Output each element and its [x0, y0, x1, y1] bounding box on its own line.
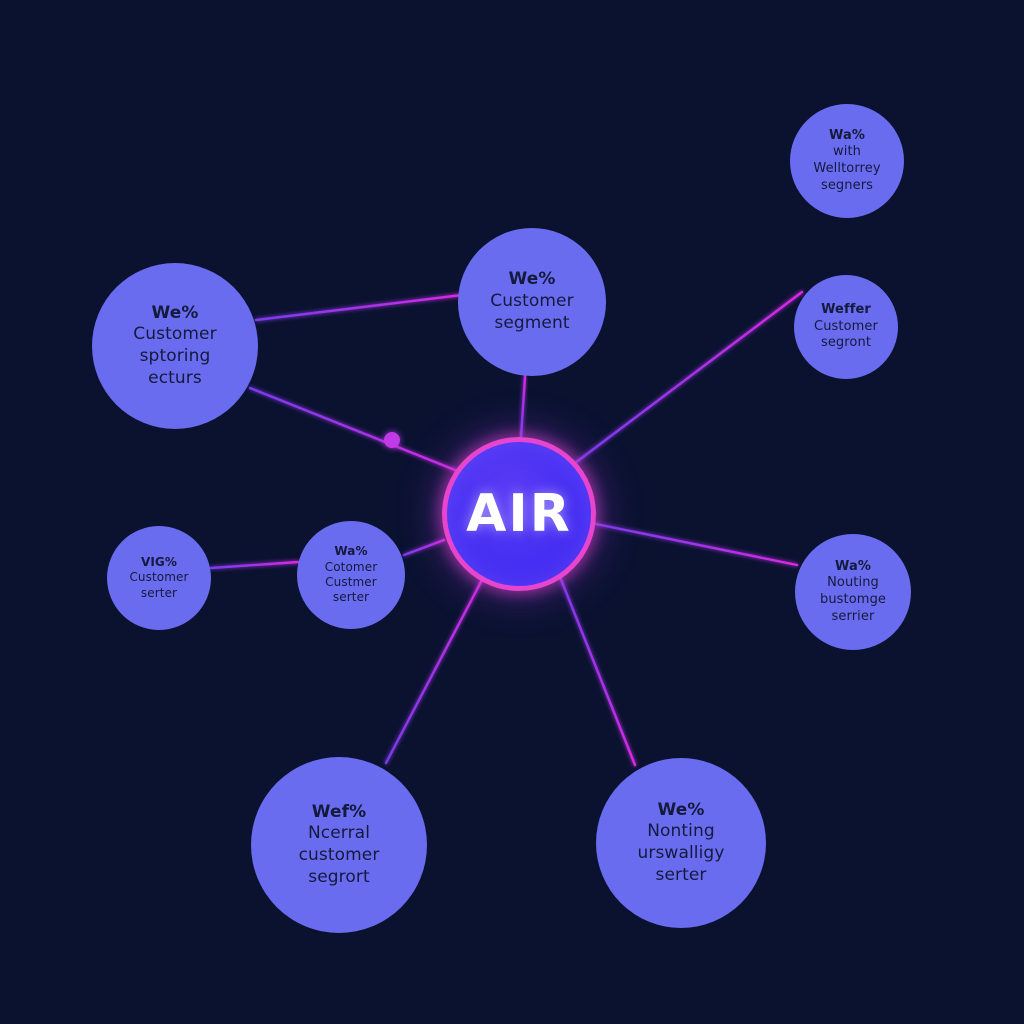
- node-text-line: Wef%: [312, 802, 367, 824]
- node-text-line: serter: [141, 586, 177, 601]
- node-text-line: segment: [494, 313, 569, 335]
- edge-line: [575, 292, 802, 463]
- node-text-line: customer: [299, 845, 380, 867]
- edge-line: [386, 578, 483, 763]
- node-text-line: sptoring: [140, 346, 211, 368]
- node-text-line: Wa%: [334, 544, 367, 559]
- edge-line: [256, 295, 462, 320]
- node-text-line: Wa%: [829, 128, 865, 145]
- node-top-right-isolated[interactable]: Wa%withWelltorreysegners: [790, 104, 904, 218]
- node-bottom-right[interactable]: We%Nontingurswalligyserter: [596, 758, 766, 928]
- node-text-line: Custmer: [325, 575, 377, 590]
- node-text-line: bustomge: [820, 592, 886, 609]
- node-text-line: with: [833, 144, 861, 161]
- node-top-center[interactable]: We%Customersegment: [458, 228, 606, 376]
- node-text-line: segront: [821, 335, 871, 352]
- node-text-line: Cotomer: [325, 560, 377, 575]
- edge-line: [211, 562, 298, 568]
- node-left-large[interactable]: We%Customersptoringecturs: [92, 263, 258, 429]
- node-text-line: segners: [821, 178, 873, 195]
- node-text-line: Welltorrey: [813, 161, 880, 178]
- edge-line: [521, 376, 525, 437]
- node-text-line: AIR: [466, 481, 572, 548]
- node-text-line: We%: [151, 303, 198, 325]
- edge-line: [596, 524, 797, 565]
- node-text-line: Weffer: [821, 302, 871, 319]
- node-text-line: Nouting: [827, 575, 879, 592]
- node-text-line: We%: [657, 800, 704, 822]
- node-text-line: Customer: [129, 570, 188, 585]
- node-text-line: Nonting: [647, 821, 715, 843]
- center-air[interactable]: AIR: [442, 437, 596, 591]
- node-right-upper[interactable]: WefferCustomersegront: [794, 275, 898, 379]
- node-right-middle[interactable]: Wa%Noutingbustomgeserrier: [795, 534, 911, 650]
- node-text-line: We%: [508, 269, 555, 291]
- edge-dot-left[interactable]: [384, 432, 400, 448]
- node-left-mid[interactable]: Wa%CotomerCustmerserter: [297, 521, 405, 629]
- edge-line: [560, 577, 635, 765]
- node-text-line: Customer: [490, 291, 573, 313]
- node-text-line: Wa%: [835, 559, 871, 576]
- node-text-line: urswalligy: [638, 843, 725, 865]
- node-left-small[interactable]: VIG%Customerserter: [107, 526, 211, 630]
- node-text-line: serter: [655, 865, 706, 887]
- node-text-line: Ncerral: [308, 823, 370, 845]
- node-bottom-left[interactable]: Wef%Ncerralcustomersegrort: [251, 757, 427, 933]
- node-text-line: serrier: [832, 609, 875, 626]
- node-text-line: Customer: [814, 319, 878, 336]
- edge-line: [404, 540, 444, 555]
- node-text-line: VIG%: [141, 555, 177, 570]
- node-text-line: serter: [333, 590, 369, 605]
- node-text-line: segrort: [308, 867, 369, 889]
- node-text-line: Customer: [133, 324, 216, 346]
- node-text-line: ecturs: [148, 368, 202, 390]
- network-diagram-canvas: Wa%withWelltorreysegnersWe%Customersptor…: [0, 0, 1024, 1024]
- edge-line: [250, 388, 460, 472]
